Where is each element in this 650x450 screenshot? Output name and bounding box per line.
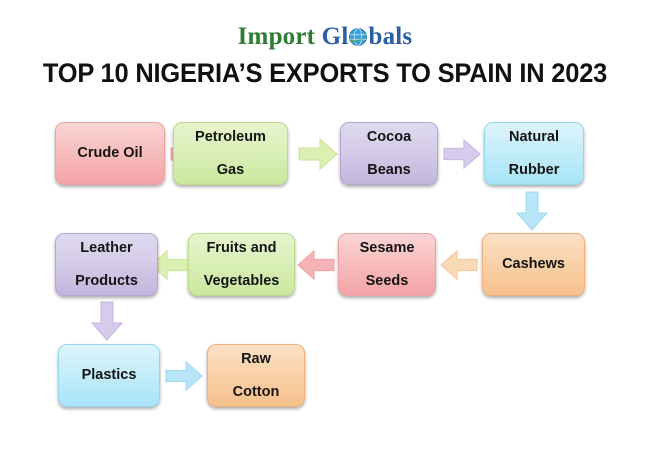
node-label-line2: Rubber [509,162,560,178]
connector-leather-products-to-plastics [91,301,123,341]
node-label-line1: Sesame [360,240,415,256]
infographic-canvas: Import Gl bals TOP 10 NIGERIA’S EXPORTS … [0,0,650,450]
connector-cashews-to-sesame-seeds [440,249,478,281]
page-title: TOP 10 NIGERIA’S EXPORTS TO SPAIN IN 202… [13,58,637,89]
logo-word-bals: bals [368,23,412,50]
connector-natural-rubber-to-cashews [516,191,548,231]
node-label-line2: Vegetables [204,273,280,289]
connector-petroleum-gas-to-cocoa-beans [298,138,338,170]
node-crude-oil[interactable]: Crude Oil [55,122,165,185]
node-label-line2: Cotton [233,384,280,400]
connector-sesame-seeds-to-fruits-vegetables [297,249,335,281]
node-label-line1: Raw [233,351,280,367]
node-label-line2: Seeds [360,273,415,289]
node-label-line1: Fruits and [204,240,280,256]
node-label: Crude Oil [77,145,142,161]
node-sesame-seeds[interactable]: Sesame Seeds [338,233,436,296]
node-natural-rubber[interactable]: Natural Rubber [484,122,584,185]
node-cocoa-beans[interactable]: Cocoa Beans [340,122,438,185]
node-plastics[interactable]: Plastics [58,344,160,407]
globe-icon [348,27,368,47]
node-label-line1: Petroleum [195,129,266,145]
node-label: Plastics [82,367,137,383]
node-label-line1: Natural [509,129,560,145]
connector-cocoa-beans-to-natural-rubber [443,138,481,170]
node-raw-cotton[interactable]: Raw Cotton [207,344,305,407]
node-cashews[interactable]: Cashews [482,233,585,296]
node-label-line2: Products [75,273,138,289]
logo-word-gl: Gl [322,23,349,50]
node-label-line2: Gas [195,162,266,178]
node-label: Cashews [502,256,565,272]
logo-word-import: Import [238,23,316,50]
node-label-line2: Beans [367,162,411,178]
connector-plastics-to-raw-cotton [165,360,203,392]
node-label-line1: Leather [75,240,138,256]
node-fruits-vegetables[interactable]: Fruits and Vegetables [188,233,295,296]
node-leather-products[interactable]: Leather Products [55,233,158,296]
node-petroleum-gas[interactable]: Petroleum Gas [173,122,288,185]
brand-logo: Import Gl bals [0,24,650,49]
node-label-line1: Cocoa [367,129,411,145]
